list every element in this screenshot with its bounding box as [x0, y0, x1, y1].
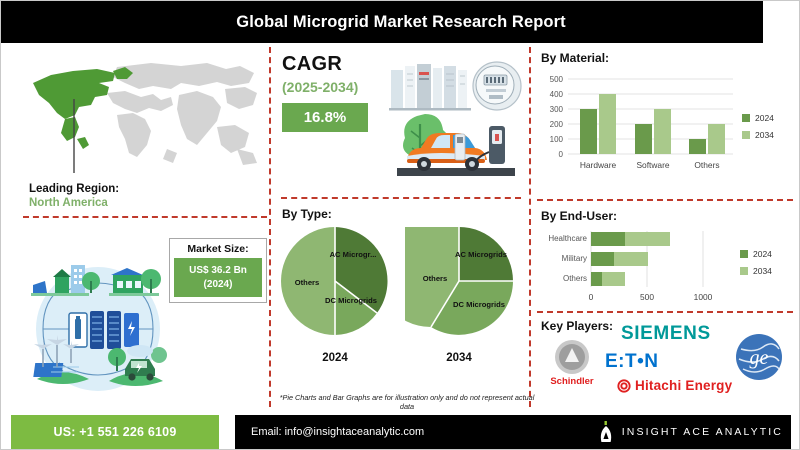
- footer-brand-logo: INSIGHT ACE ANALYTIC: [598, 421, 783, 443]
- by-type-pie-charts: AC Microgr... DC Microgrids Others 2024: [279, 227, 523, 387]
- hitachi-mark-icon: [617, 379, 631, 393]
- legend-swatch-end-2034: [740, 267, 748, 275]
- y-label-healthcare: Healthcare: [548, 234, 587, 243]
- market-size-card: Market Size: US$ 36.2 Bn (2024): [169, 238, 267, 303]
- by-end-user-bar-chart: Healthcare Military Others 0 500 1000: [537, 227, 737, 307]
- y-label-military: Military: [562, 254, 587, 263]
- bar-healthcare-2024: [591, 232, 625, 246]
- svg-text:ge: ge: [750, 347, 769, 369]
- legend-swatch-2024: [742, 114, 750, 122]
- legend-swatch-2034: [742, 131, 750, 139]
- schindler-logo: Schindler: [537, 339, 607, 387]
- cagr-years: (2025-2034): [282, 79, 392, 95]
- market-size-value-line2: (2024): [176, 278, 260, 292]
- legend-label-2024: 2024: [755, 113, 774, 123]
- legend-item-2034: 2034: [742, 130, 774, 140]
- x-tick-500: 500: [640, 292, 654, 302]
- bar-software-2024: [635, 124, 652, 154]
- page-title: Global Microgrid Market Research Report: [236, 13, 565, 32]
- world-map-icon: [21, 53, 261, 178]
- y-tick-100: 100: [550, 135, 564, 144]
- by-end-user-title: By End-User:: [541, 209, 617, 223]
- footer-phone-text: US: +1 551 226 6109: [54, 425, 177, 439]
- pie-2024-year-label: 2024: [281, 352, 389, 364]
- by-material-bar-chart: 500 400 300 200 100 0: [537, 71, 737, 181]
- divider-horizontal-right-bottom: [537, 311, 793, 313]
- y-tick-0: 0: [559, 150, 564, 159]
- hitachi-energy-label: Hitachi Energy: [635, 378, 732, 393]
- y-tick-200: 200: [550, 120, 564, 129]
- header-left-block: [1, 1, 40, 43]
- bar-healthcare-2034: [625, 232, 670, 246]
- cagr-title: CAGR: [282, 53, 392, 76]
- leading-region: Leading Region: North America: [29, 183, 119, 209]
- insight-ace-mark-icon: [598, 421, 614, 443]
- bar-others-2034: [708, 124, 725, 154]
- by-material-legend: 2024 2034: [742, 113, 774, 147]
- legend-label-end-2024: 2024: [753, 249, 772, 259]
- x-label-others: Others: [694, 160, 719, 170]
- divider-horizontal-left: [23, 216, 267, 218]
- pie-2034-year-label: 2034: [405, 352, 513, 364]
- by-material-title: By Material:: [541, 51, 609, 65]
- footer-brand-text: INSIGHT ACE ANALYTIC: [622, 426, 783, 438]
- bar-military-2034: [614, 252, 648, 266]
- cagr-block: CAGR (2025-2034) 16.8%: [282, 53, 392, 132]
- bar-endothers-2024: [591, 272, 602, 286]
- legend-label-2034: 2034: [755, 130, 774, 140]
- pie-2034-slice-label-0: AC Microgrids: [455, 250, 507, 259]
- bar-others-2024: [689, 139, 706, 154]
- y-label-others: Others: [563, 274, 587, 283]
- bar-endothers-2034: [602, 272, 625, 286]
- siemens-logo: SIEMENS: [621, 323, 711, 345]
- y-tick-400: 400: [550, 90, 564, 99]
- x-tick-0: 0: [589, 292, 594, 302]
- y-tick-300: 300: [550, 105, 564, 114]
- ge-logo: ge: [735, 333, 783, 381]
- pie-2024-slice-label-1: DC Microgrids: [325, 296, 377, 305]
- market-size-value: US$ 36.2 Bn (2024): [174, 258, 262, 297]
- divider-horizontal-right-top: [537, 199, 793, 201]
- ge-monogram-icon: ge: [735, 333, 783, 381]
- bar-hardware-2024: [580, 109, 597, 154]
- y-tick-500: 500: [550, 75, 564, 84]
- cagr-value-badge: 16.8%: [282, 103, 368, 132]
- bar-software-2034: [654, 109, 671, 154]
- market-size-value-line1: US$ 36.2 Bn: [176, 264, 260, 278]
- footer-email-text[interactable]: Email: info@insightaceanalytic.com: [251, 426, 424, 438]
- schindler-label: Schindler: [537, 376, 607, 387]
- disclaimer-text: *Pie Charts and Bar Graphs are for illus…: [277, 393, 537, 411]
- ev-charging-illustration-icon: [387, 56, 525, 184]
- pie-2024-slice-label-2: Others: [295, 278, 319, 287]
- x-label-hardware: Hardware: [580, 160, 617, 170]
- legend-label-end-2034: 2034: [753, 266, 772, 276]
- legend-item-end-2034: 2034: [740, 266, 772, 276]
- pie-chart-2034: AC Microgrids DC Microgrids Others 2034: [405, 227, 513, 364]
- hitachi-energy-logo: Hitachi Energy: [617, 378, 732, 393]
- footer-bar: Email: info@insightaceanalytic.com INSIG…: [235, 415, 791, 449]
- bar-hardware-2034: [599, 94, 616, 154]
- by-end-user-legend: 2024 2034: [740, 249, 772, 283]
- divider-vertical-right: [529, 47, 531, 407]
- market-size-label: Market Size:: [174, 243, 262, 255]
- pie-chart-2024: AC Microgr... DC Microgrids Others 2024: [281, 227, 389, 364]
- footer-phone-box: US: +1 551 226 6109: [11, 415, 219, 449]
- leading-region-value: North America: [29, 197, 119, 209]
- by-type-title: By Type:: [282, 207, 332, 221]
- eaton-logo: E:T•N: [605, 351, 658, 373]
- pie-2034-slice-label-2: Others: [423, 274, 447, 283]
- key-players-logos: SIEMENS E:T•N Hitachi Energy Schindle: [537, 323, 797, 405]
- leading-region-label: Leading Region:: [29, 183, 119, 195]
- x-tick-1000: 1000: [694, 292, 713, 302]
- legend-item-end-2024: 2024: [740, 249, 772, 259]
- divider-vertical-left: [269, 47, 271, 407]
- legend-item-2024: 2024: [742, 113, 774, 123]
- bar-military-2024: [591, 252, 614, 266]
- pie-2034-slice-label-1: DC Microgrids: [453, 300, 505, 309]
- x-label-software: Software: [636, 160, 669, 170]
- infographic-page: Global Microgrid Market Research Report: [0, 0, 800, 450]
- header-bar: Global Microgrid Market Research Report: [39, 1, 763, 43]
- divider-horizontal-middle: [281, 197, 521, 199]
- pie-2024-slice-label-0: AC Microgr...: [330, 250, 377, 259]
- microgrid-illustration-icon: [13, 251, 183, 406]
- legend-swatch-end-2024: [740, 250, 748, 258]
- schindler-mark-icon: [554, 339, 590, 375]
